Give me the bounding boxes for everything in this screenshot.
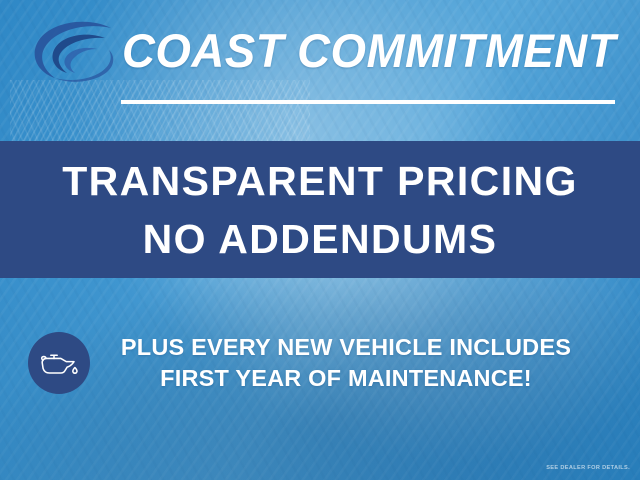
header-divider xyxy=(121,100,615,104)
promo-line-2: FIRST YEAR OF MAINTENANCE! xyxy=(114,363,578,394)
coast-commitment-banner: COAST COMMITMENT TRANSPARENT PRICING NO … xyxy=(0,0,640,480)
main-message-line-2: NO ADDENDUMS xyxy=(143,210,498,268)
promo-section: PLUS EVERY NEW VEHICLE INCLUDES FIRST YE… xyxy=(0,318,640,408)
banner-header: COAST COMMITMENT xyxy=(0,0,640,141)
main-message-line-1: TRANSPARENT PRICING xyxy=(62,152,578,210)
promo-line-1: PLUS EVERY NEW VEHICLE INCLUDES xyxy=(114,332,578,363)
oil-can-icon xyxy=(28,332,90,394)
coast-wave-swirl-logo-icon xyxy=(25,18,121,92)
page-title: COAST COMMITMENT xyxy=(122,23,607,79)
promo-text-block: PLUS EVERY NEW VEHICLE INCLUDES FIRST YE… xyxy=(114,332,640,394)
main-message-band: TRANSPARENT PRICING NO ADDENDUMS xyxy=(0,141,640,278)
disclaimer-text: SEE DEALER FOR DETAILS. xyxy=(546,465,630,471)
